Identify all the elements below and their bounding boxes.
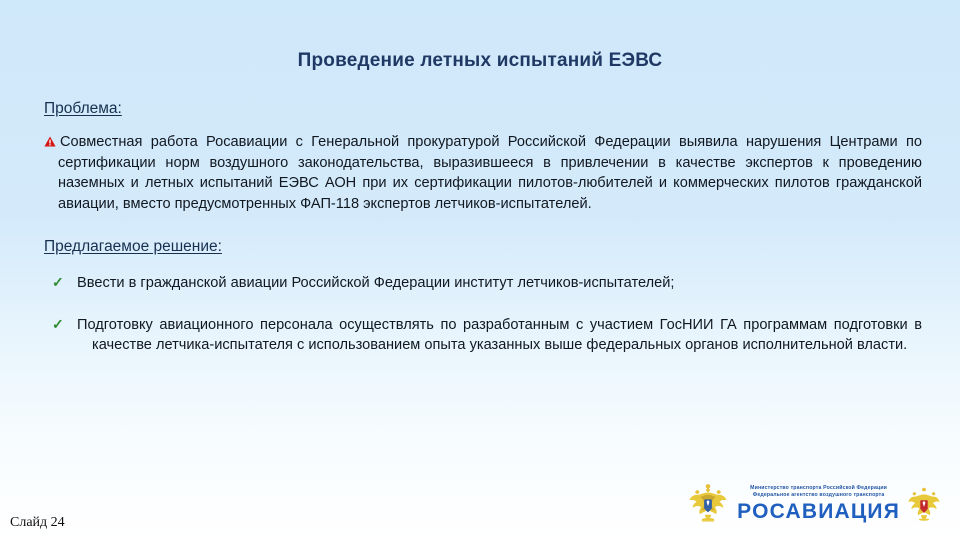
russian-coat-of-arms-emblem-icon xyxy=(906,484,942,524)
solution-item-1-paragraph: ✓Ввести в гражданской авиации Российской… xyxy=(72,272,922,294)
problem-paragraph-text: Совместная работа Росавиации с Генеральн… xyxy=(58,134,922,212)
warning-triangle-icon xyxy=(44,136,56,147)
slide-number: Слайд 24 xyxy=(10,515,65,531)
page-title: Проведение летных испытаний ЕЭВС xyxy=(0,50,960,72)
solution-item-2-paragraph: ✓Подготовку авиационного персонала осуще… xyxy=(72,314,922,356)
list-item: ✓Ввести в гражданской авиации Российской… xyxy=(44,272,922,294)
ministry-line-1: Министерство транспорта Российской Федер… xyxy=(750,485,887,492)
russian-double-eagle-emblem-icon xyxy=(685,481,731,527)
slide-canvas: Проведение летных испытаний ЕЭВС Проблем… xyxy=(0,0,960,540)
rosaviatsiya-logo: Министерство транспорта Российской Федер… xyxy=(735,485,902,524)
list-item: ✓Подготовку авиационного персонала осуще… xyxy=(44,314,922,356)
problem-paragraph: Совместная работа Росавиации с Генеральн… xyxy=(44,132,922,214)
problem-section: Проблема: Совместная работа Росавиации с… xyxy=(44,100,922,214)
problem-body: Совместная работа Росавиации с Генеральн… xyxy=(44,132,922,214)
solution-section: Предлагаемое решение: ✓Ввести в гражданс… xyxy=(44,238,922,356)
solution-item-1-text: Ввести в гражданской авиации Российской … xyxy=(77,275,674,291)
ministry-line-2: Федеральное агентство воздушного транспо… xyxy=(753,492,885,499)
solution-heading: Предлагаемое решение: xyxy=(44,238,922,256)
slide-content: Проблема: Совместная работа Росавиации с… xyxy=(44,100,922,356)
solution-item-2-text: Подготовку авиационного персонала осущес… xyxy=(77,317,922,354)
problem-heading: Проблема: xyxy=(44,100,922,118)
rosaviatsiya-wordmark: РОСАВИАЦИЯ xyxy=(737,500,900,524)
footer-logo-band: Министерство транспорта Российской Федер… xyxy=(685,476,942,532)
